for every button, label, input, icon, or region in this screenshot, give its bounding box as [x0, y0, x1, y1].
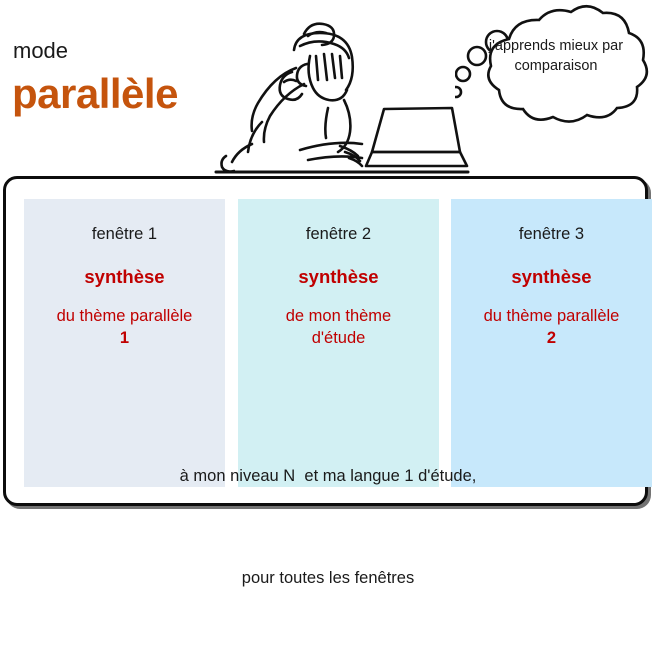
synthese-description-3: du thème parallèle 2	[451, 305, 652, 349]
person-thinking-at-laptop-illustration	[212, 4, 472, 176]
description-number-3: 2	[547, 329, 556, 347]
synthese-heading-3: synthèse	[451, 266, 652, 288]
panel-caption: à mon niveau N et ma langue 1 d'étude, p…	[24, 391, 632, 663]
bubble-line-3: comparaison	[514, 58, 597, 74]
synthese-description-1: du thème parallèle 1	[24, 305, 225, 349]
bubble-line-2: mieux par	[559, 38, 623, 54]
description-text-2: de mon thème	[286, 307, 391, 325]
description-number-1: 1	[120, 329, 129, 347]
synthese-heading-2: synthèse	[238, 266, 439, 288]
caption-line-2: pour toutes les fenêtres	[24, 561, 632, 595]
thought-bubble-text: j'apprends mieux par comparaison	[470, 36, 642, 76]
description-text-1: du thème parallèle	[57, 307, 193, 325]
parallel-mode-panel: fenêtre 1 synthèse du thème parallèle 1 …	[3, 176, 648, 506]
header: mode parallèle	[0, 0, 657, 176]
window-label-3: fenêtre 3	[451, 224, 652, 244]
description-number-2: d'étude	[312, 329, 366, 347]
caption-line-1: à mon niveau N et ma langue 1 d'étude,	[24, 459, 632, 493]
synthese-heading-1: synthèse	[24, 266, 225, 288]
description-text-3: du thème parallèle	[484, 307, 620, 325]
window-label-1: fenêtre 1	[24, 224, 225, 244]
bubble-line-1: j'apprends	[489, 38, 555, 54]
window-label-2: fenêtre 2	[238, 224, 439, 244]
synthese-description-2: de mon thème d'étude	[238, 305, 439, 349]
page-title: parallèle	[12, 70, 178, 118]
mode-label: mode	[13, 38, 68, 64]
